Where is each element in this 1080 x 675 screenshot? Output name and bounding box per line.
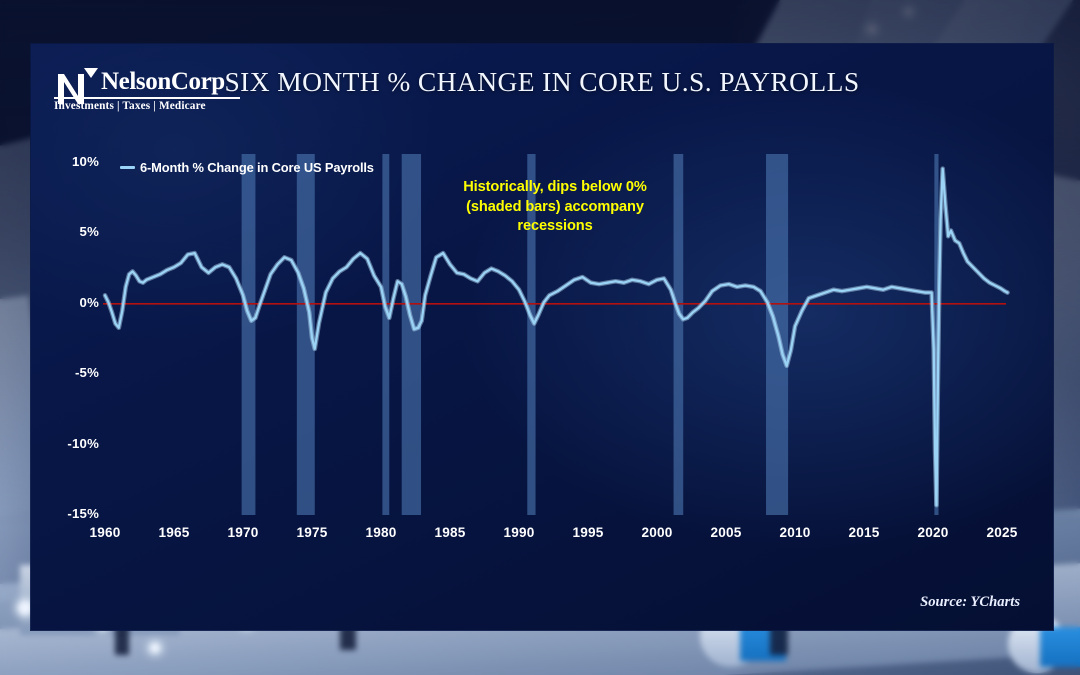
slide: NelsonCorp Investments | Taxes | Medicar… (0, 0, 1080, 675)
x-axis-tick-label: 2010 (763, 525, 827, 540)
source-label: Source: YCharts (920, 594, 1020, 611)
y-axis-tick-label: 10% (39, 154, 99, 169)
x-axis-tick-label: 2015 (832, 525, 896, 540)
y-axis-tick-label: -5% (39, 365, 99, 380)
legend-label: 6-Month % Change in Core US Payrolls (140, 160, 374, 175)
x-axis-tick-label: 1990 (487, 525, 551, 540)
recession-band (402, 154, 421, 515)
chart-plot-area (31, 44, 1053, 630)
recession-band (382, 154, 389, 515)
annotation-line-1: Historically, dips below 0% (421, 178, 689, 198)
recession-band (242, 154, 256, 515)
x-axis-tick-label: 1970 (211, 525, 275, 540)
x-axis-tick-label: 1960 (73, 525, 137, 540)
slide-panel: NelsonCorp Investments | Taxes | Medicar… (31, 44, 1053, 630)
x-axis-tick-label: 1995 (556, 525, 620, 540)
chart-annotation: Historically, dips below 0% (shaded bars… (421, 178, 689, 237)
y-axis-tick-label: 0% (39, 295, 99, 310)
payrolls-line-chart: 10%5%0%-5%-10%-15%1960196519701975198019… (31, 44, 1053, 630)
x-axis-tick-label: 2025 (970, 525, 1034, 540)
annotation-line-2: (shaded bars) accompany (421, 198, 689, 218)
x-axis-tick-label: 1965 (142, 525, 206, 540)
x-axis-tick-label: 1980 (349, 525, 413, 540)
annotation-line-3: recessions (421, 217, 689, 237)
x-axis-tick-label: 2005 (694, 525, 758, 540)
x-axis-tick-label: 1985 (418, 525, 482, 540)
y-axis-tick-label: 5% (39, 224, 99, 239)
x-axis-tick-label: 2000 (625, 525, 689, 540)
x-axis-tick-label: 2020 (901, 525, 965, 540)
y-axis-tick-label: -10% (39, 436, 99, 451)
chart-legend: 6-Month % Change in Core US Payrolls (120, 160, 374, 175)
y-axis-tick-label: -15% (39, 506, 99, 521)
x-axis-tick-label: 1975 (280, 525, 344, 540)
legend-swatch-icon (120, 166, 135, 169)
